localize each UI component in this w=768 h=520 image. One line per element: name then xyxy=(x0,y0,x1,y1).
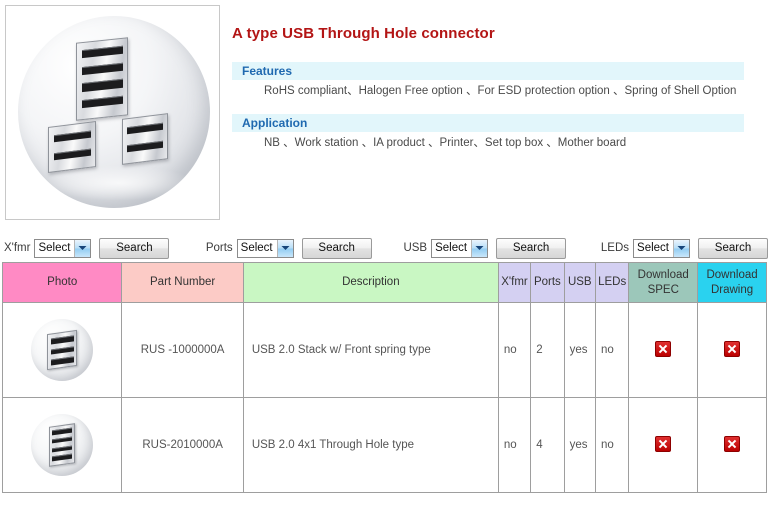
broken-image-icon[interactable] xyxy=(724,436,740,452)
filter-label-leds: LEDs xyxy=(601,242,629,254)
filter-label-xfmr: X'fmr xyxy=(4,242,30,254)
cell-ports: 2 xyxy=(531,303,564,398)
filter-label-ports: Ports xyxy=(206,242,233,254)
cell-part-number: RUS -1000000A xyxy=(122,303,243,398)
filter-label-usb: USB xyxy=(403,242,427,254)
search-button-xfmr[interactable]: Search xyxy=(99,238,169,259)
download-spec-line1: Download xyxy=(638,269,689,281)
product-overview: A type USB Through Hole connector Featur… xyxy=(0,0,768,220)
filter-group-ports: Ports Select Search xyxy=(206,238,372,259)
photo-disc-background xyxy=(18,16,210,208)
column-header-download-drawing: Download Drawing xyxy=(698,263,767,303)
search-button-leds[interactable]: Search xyxy=(698,238,768,259)
cell-download-drawing[interactable] xyxy=(698,398,767,493)
product-table: Photo Part Number Description X'fmr Port… xyxy=(2,262,767,493)
chevron-down-icon xyxy=(471,240,487,257)
cell-leds: no xyxy=(595,303,628,398)
connector-stack-4port xyxy=(76,37,128,120)
filter-select-leds-value: Select xyxy=(637,242,673,254)
table-row: RUS-2010000A USB 2.0 4x1 Through Hole ty… xyxy=(3,398,767,493)
download-spec-line2: SPEC xyxy=(648,284,679,296)
product-info: A type USB Through Hole connector Featur… xyxy=(220,5,768,151)
connector-dual-right xyxy=(122,113,168,165)
cell-description: USB 2.0 Stack w/ Front spring type xyxy=(243,303,498,398)
filter-bar: X'fmr Select Search Ports Select Search xyxy=(0,220,768,262)
table-header-row: Photo Part Number Description X'fmr Port… xyxy=(3,263,767,303)
connector-thumb-stack xyxy=(47,330,77,370)
product-photo xyxy=(5,5,220,220)
filter-select-ports[interactable]: Select xyxy=(237,239,294,258)
filter-group-leds: LEDs Select Search xyxy=(601,238,768,259)
filter-select-leds[interactable]: Select xyxy=(633,239,690,258)
cell-part-number: RUS-2010000A xyxy=(122,398,243,493)
filter-select-xfmr[interactable]: Select xyxy=(34,239,91,258)
cell-download-drawing[interactable] xyxy=(698,303,767,398)
features-text: RoHS compliant、Halogen Free option 、For … xyxy=(232,80,744,100)
features-heading: Features xyxy=(232,62,744,80)
filter-select-usb-value: Select xyxy=(435,242,471,254)
column-header-xfmr: X'fmr xyxy=(498,263,530,303)
cell-leds: no xyxy=(595,398,628,493)
table-row: RUS -1000000A USB 2.0 Stack w/ Front spr… xyxy=(3,303,767,398)
page-title: A type USB Through Hole connector xyxy=(232,25,768,42)
column-header-part-number: Part Number xyxy=(122,263,243,303)
cell-xfmr: no xyxy=(498,303,530,398)
filter-select-ports-value: Select xyxy=(241,242,277,254)
chevron-down-icon xyxy=(74,240,90,257)
chevron-down-icon xyxy=(277,240,293,257)
column-header-leds: LEDs xyxy=(595,263,628,303)
product-page: A type USB Through Hole connector Featur… xyxy=(0,0,768,520)
filter-select-xfmr-value: Select xyxy=(38,242,74,254)
connector-thumb-4x1 xyxy=(49,423,75,467)
column-header-download-spec: Download SPEC xyxy=(629,263,698,303)
chevron-down-icon xyxy=(673,240,689,257)
cell-download-spec[interactable] xyxy=(629,398,698,493)
cell-xfmr: no xyxy=(498,398,530,493)
search-button-usb[interactable]: Search xyxy=(496,238,566,259)
cell-download-spec[interactable] xyxy=(629,303,698,398)
broken-image-icon[interactable] xyxy=(655,341,671,357)
broken-image-icon[interactable] xyxy=(724,341,740,357)
application-text: NB 、Work station 、IA product 、Printer、Se… xyxy=(232,132,744,152)
connector-dual-left xyxy=(48,121,96,173)
search-button-ports[interactable]: Search xyxy=(302,238,372,259)
column-header-ports: Ports xyxy=(531,263,564,303)
cell-description: USB 2.0 4x1 Through Hole type xyxy=(243,398,498,493)
filter-group-xfmr: X'fmr Select Search xyxy=(4,238,169,259)
cell-photo xyxy=(3,398,122,493)
broken-image-icon[interactable] xyxy=(655,436,671,452)
cell-usb: yes xyxy=(564,398,595,493)
column-header-description: Description xyxy=(243,263,498,303)
column-header-photo: Photo xyxy=(3,263,122,303)
download-drawing-line2: Drawing xyxy=(711,284,753,296)
cell-ports: 4 xyxy=(531,398,564,493)
filter-select-usb[interactable]: Select xyxy=(431,239,488,258)
cell-usb: yes xyxy=(564,303,595,398)
column-header-usb: USB xyxy=(564,263,595,303)
application-heading: Application xyxy=(232,114,744,132)
product-thumbnail xyxy=(31,319,93,381)
photo-reflection xyxy=(44,166,194,200)
product-thumbnail xyxy=(31,414,93,476)
download-drawing-line1: Download xyxy=(706,269,757,281)
cell-photo xyxy=(3,303,122,398)
filter-group-usb: USB Select Search xyxy=(403,238,566,259)
